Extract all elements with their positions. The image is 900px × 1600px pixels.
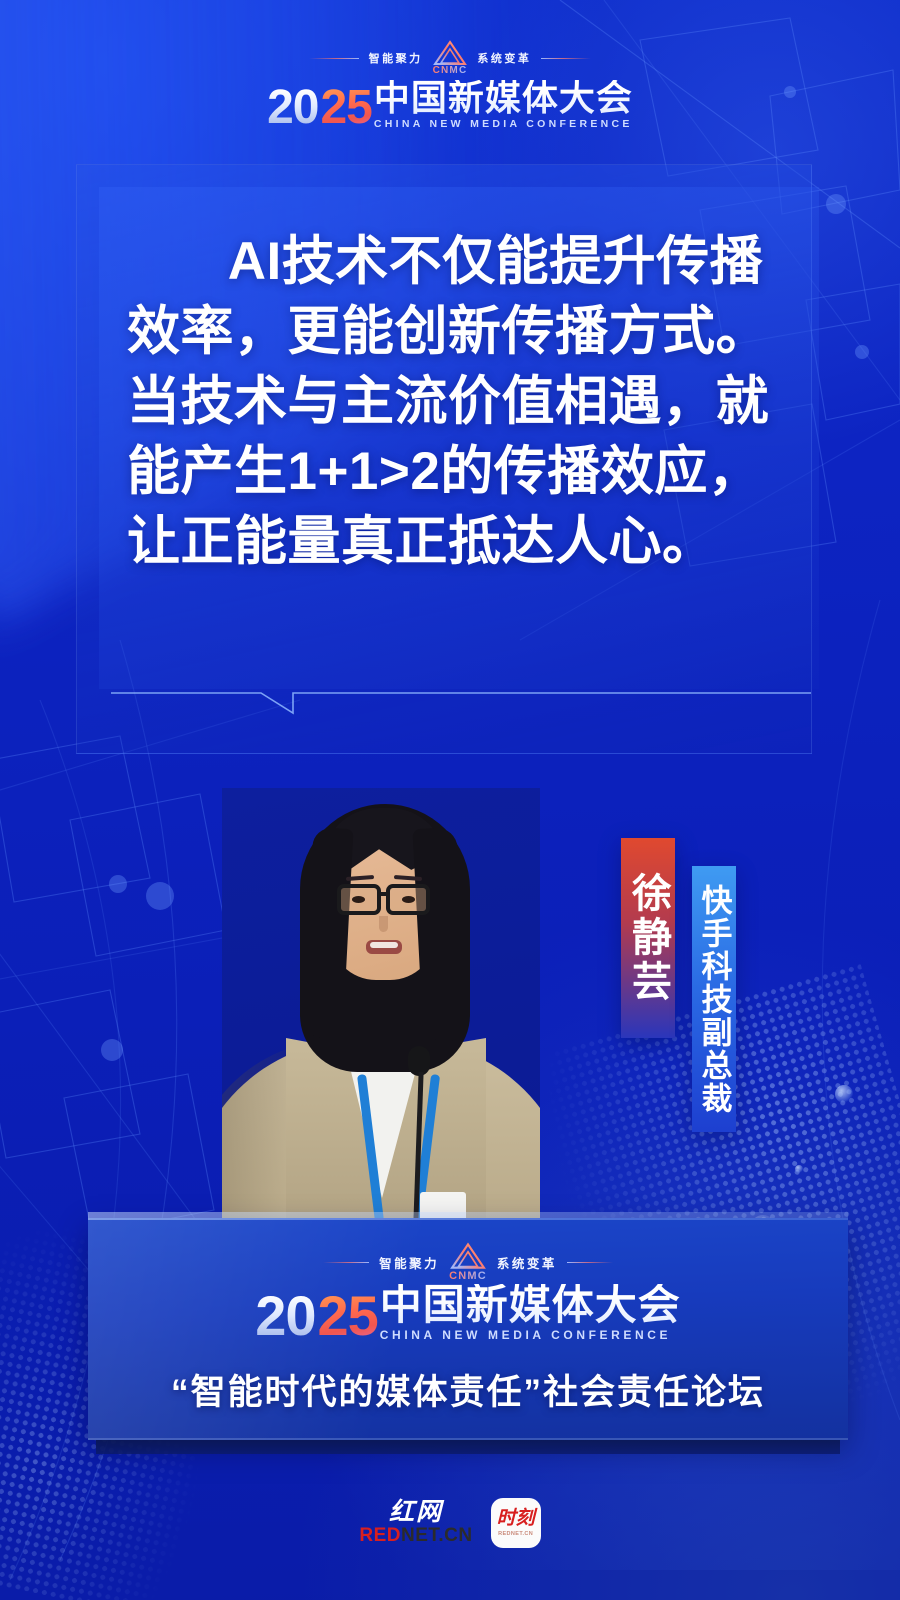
header-logo-title: 20 25 中国新媒体大会 CHINA NEW MEDIA CONFERENCE bbox=[0, 80, 900, 130]
tagline-rule-right bbox=[541, 58, 591, 59]
quote-line: AI技术不仅能提升传播 bbox=[127, 227, 785, 297]
quote-line: 当技术与主流价值相遇，就 bbox=[127, 367, 785, 437]
cnmc-triangle-icon bbox=[433, 40, 467, 66]
podium-conference-logo: 智能聚力 CNMC 系统变革 20 25 中国新媒体大会 CHINA bbox=[88, 1242, 848, 1342]
tagline-right-text: 系统变革 bbox=[497, 1253, 557, 1272]
background-bokeh-dot-1 bbox=[835, 1085, 853, 1103]
conference-name-en: CHINA NEW MEDIA CONFERENCE bbox=[374, 118, 633, 130]
cnmc-wordmark: CNMC bbox=[449, 1270, 487, 1282]
quote-text: AI技术不仅能提升传播 效率，更能创新传播方式。 当技术与主流价值相遇，就 能产… bbox=[127, 227, 785, 577]
header-conference-logo: 智能聚力 CNMC 系统变革 20 25 bbox=[0, 40, 900, 130]
quote-line-text: AI技术不仅能提升传播 bbox=[228, 232, 764, 291]
footer-logos: 红网 REDNET.CN 时刻 REDNET.CN bbox=[0, 1498, 900, 1548]
eye-left bbox=[352, 896, 365, 903]
tagline-rule-left bbox=[323, 1262, 369, 1263]
podium-forum-title: “智能时代的媒体责任”社会责任论坛 bbox=[88, 1364, 848, 1415]
cnmc-triangle-icon bbox=[450, 1242, 486, 1270]
speaker-photo bbox=[222, 788, 540, 1220]
rednet-logo: 红网 REDNET.CN bbox=[359, 1499, 472, 1547]
quote-line: 让正能量真正抵达人心。 bbox=[127, 507, 785, 577]
cnmc-logo: CNMC bbox=[433, 40, 468, 76]
conference-name-cn: 中国新媒体大会 bbox=[374, 80, 633, 116]
cnmc-logo: CNMC bbox=[449, 1242, 487, 1282]
moment-app-icon: 时刻 REDNET.CN bbox=[491, 1498, 541, 1548]
conference-name-cn: 中国新媒体大会 bbox=[380, 1284, 681, 1326]
podium-top-edge bbox=[88, 1212, 848, 1220]
year-25: 25 bbox=[317, 1290, 377, 1342]
rednet-logo-en: REDNET.CN bbox=[359, 1526, 472, 1547]
moment-app-icon-cn: 时刻 bbox=[497, 1509, 535, 1528]
quote-bubble-tail bbox=[111, 683, 811, 717]
podium-logo-title: 20 25 中国新媒体大会 CHINA NEW MEDIA CONFERENCE bbox=[88, 1284, 848, 1342]
header-logo-tagline: 智能聚力 CNMC 系统变革 bbox=[0, 40, 900, 76]
tagline-left-text: 智能聚力 bbox=[369, 50, 423, 66]
tagline-right-text: 系统变革 bbox=[477, 50, 531, 66]
podium: 智能聚力 CNMC 系统变革 20 25 中国新媒体大会 CHINA bbox=[88, 1218, 848, 1440]
cnmc-wordmark: CNMC bbox=[433, 65, 468, 76]
moment-app-icon-sub: REDNET.CN bbox=[498, 1531, 533, 1537]
speaker-name: 徐静芸 bbox=[628, 872, 668, 1004]
quote-line: 能产生1+1>2的传播效应， bbox=[127, 437, 785, 507]
rednet-logo-en-dark: NET.CN bbox=[401, 1525, 473, 1546]
rednet-logo-cn: 红网 bbox=[359, 1499, 472, 1527]
podium-logo-tagline: 智能聚力 CNMC 系统变革 bbox=[88, 1242, 848, 1282]
eye-right bbox=[402, 896, 415, 903]
year-20: 20 bbox=[267, 86, 318, 130]
teeth bbox=[370, 942, 398, 948]
conference-name-en: CHINA NEW MEDIA CONFERENCE bbox=[380, 1328, 671, 1342]
speaker-name-plate: 徐静芸 bbox=[621, 838, 675, 1038]
speaker-title: 快手科技副总裁 bbox=[699, 884, 730, 1115]
quote-line: 效率，更能创新传播方式。 bbox=[127, 297, 785, 367]
conference-name-block: 中国新媒体大会 CHINA NEW MEDIA CONFERENCE bbox=[380, 1284, 681, 1342]
conference-name-block: 中国新媒体大会 CHINA NEW MEDIA CONFERENCE bbox=[374, 80, 633, 130]
quote-card: AI技术不仅能提升传播 效率，更能创新传播方式。 当技术与主流价值相遇，就 能产… bbox=[76, 164, 812, 754]
year-20: 20 bbox=[255, 1290, 315, 1342]
tagline-left-text: 智能聚力 bbox=[379, 1253, 439, 1272]
poster-root: 智能聚力 CNMC 系统变革 20 25 bbox=[0, 0, 900, 1600]
rednet-logo-en-red: RED bbox=[359, 1525, 401, 1546]
nose bbox=[379, 916, 388, 932]
year-25: 25 bbox=[320, 86, 371, 130]
background-bokeh-dot-2 bbox=[795, 1165, 803, 1173]
tagline-rule-right bbox=[567, 1262, 613, 1263]
tagline-rule-left bbox=[309, 58, 359, 59]
podium-base-shadow bbox=[96, 1440, 840, 1454]
glasses-bridge bbox=[379, 892, 389, 896]
speaker-title-plate: 快手科技副总裁 bbox=[692, 866, 736, 1132]
